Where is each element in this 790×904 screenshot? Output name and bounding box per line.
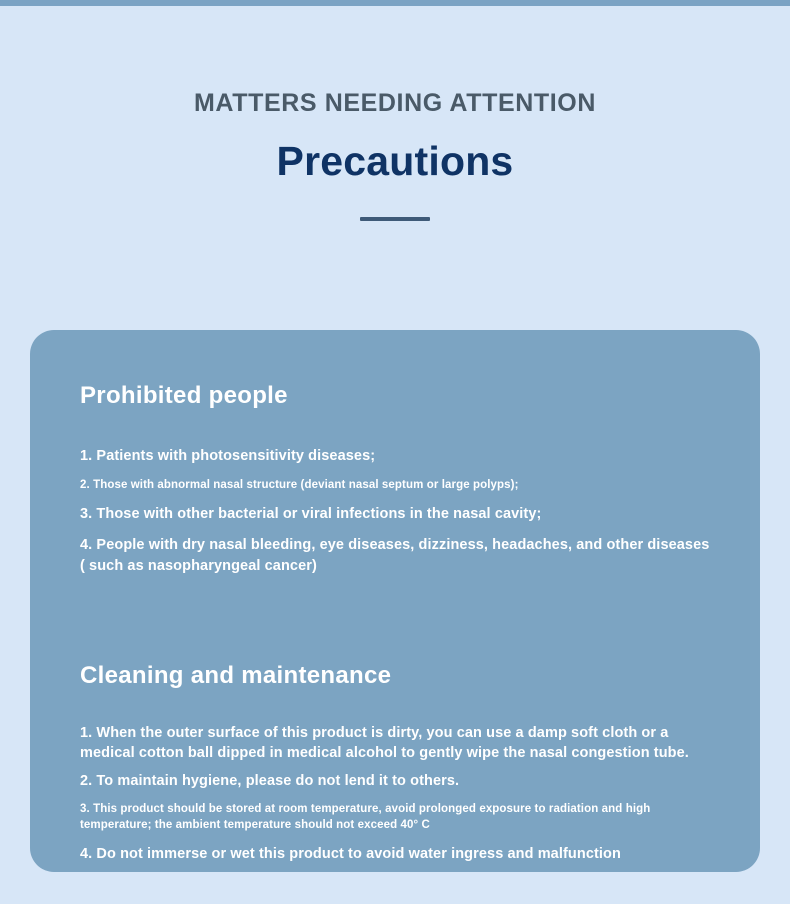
precautions-card: Prohibited people 1. Patients with photo… bbox=[30, 330, 760, 872]
page-title: Precautions bbox=[0, 118, 790, 185]
list-item: 3. Those with other bacterial or viral i… bbox=[80, 504, 712, 524]
prohibited-people-list: 1. Patients with photosensitivity diseas… bbox=[80, 446, 712, 576]
list-item: 4. People with dry nasal bleeding, eye d… bbox=[80, 535, 712, 576]
list-item: 4. Do not immerse or wet this product to… bbox=[80, 844, 712, 864]
section-heading-cleaning-and-maintenance: Cleaning and maintenance bbox=[80, 662, 712, 691]
list-item: 1. When the outer surface of this produc… bbox=[80, 723, 712, 764]
section-heading-prohibited-people: Prohibited people bbox=[80, 382, 712, 411]
cleaning-maintenance-list: 1. When the outer surface of this produc… bbox=[80, 723, 712, 864]
list-item: 1. Patients with photosensitivity diseas… bbox=[80, 446, 712, 466]
page-eyebrow: MATTERS NEEDING ATTENTION bbox=[0, 0, 790, 118]
list-item: 2. To maintain hygiene, please do not le… bbox=[80, 771, 712, 791]
list-item: 2. Those with abnormal nasal structure (… bbox=[80, 477, 712, 493]
title-divider bbox=[360, 217, 430, 221]
page-header: MATTERS NEEDING ATTENTION Precautions bbox=[0, 0, 790, 221]
list-item: 3. This product should be stored at room… bbox=[80, 801, 712, 833]
